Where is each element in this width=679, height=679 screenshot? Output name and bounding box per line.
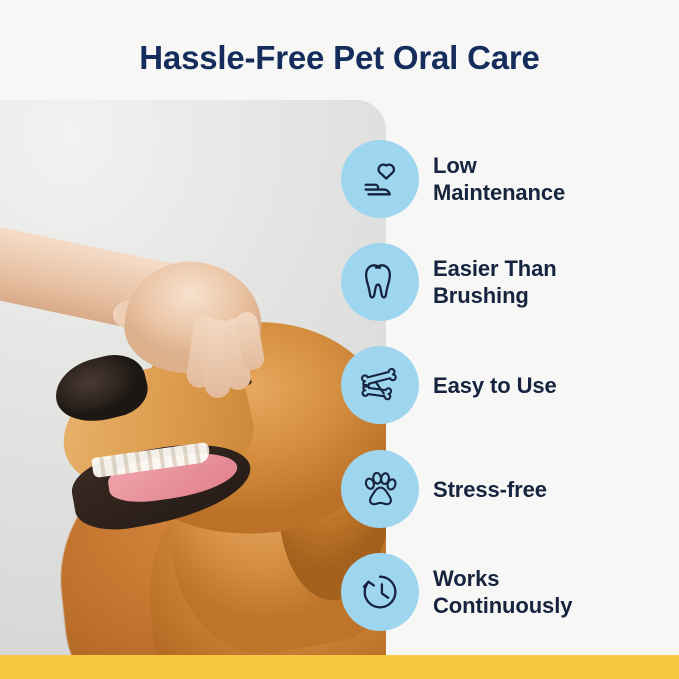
- feature-item-stress-free: Stress-free: [341, 450, 547, 528]
- feature-label: Easy to Use: [433, 372, 557, 399]
- feature-label: Easier Than Brushing: [433, 255, 557, 309]
- paw-print-icon: [341, 450, 419, 528]
- poster-root: Hassle-Free Pet Oral Care: [0, 0, 679, 679]
- tooth-icon: [341, 243, 419, 321]
- feature-item-easy-to-use: Easy to Use: [341, 346, 557, 424]
- feature-label: Low Maintenance: [433, 152, 565, 206]
- heart-in-hand-icon: [341, 140, 419, 218]
- page-title: Hassle-Free Pet Oral Care: [0, 36, 679, 80]
- hero-photo: [0, 100, 386, 656]
- feature-item-works-continuously: Works Continuously: [341, 553, 572, 631]
- crossed-bones-icon: [341, 346, 419, 424]
- feature-label: Works Continuously: [433, 565, 572, 619]
- feature-label: Stress-free: [433, 476, 547, 503]
- clock-rotate-icon: [341, 553, 419, 631]
- bottom-accent-bar: [0, 655, 679, 679]
- feature-item-low-maintenance: Low Maintenance: [341, 140, 565, 218]
- feature-item-easier-than-brushing: Easier Than Brushing: [341, 243, 557, 321]
